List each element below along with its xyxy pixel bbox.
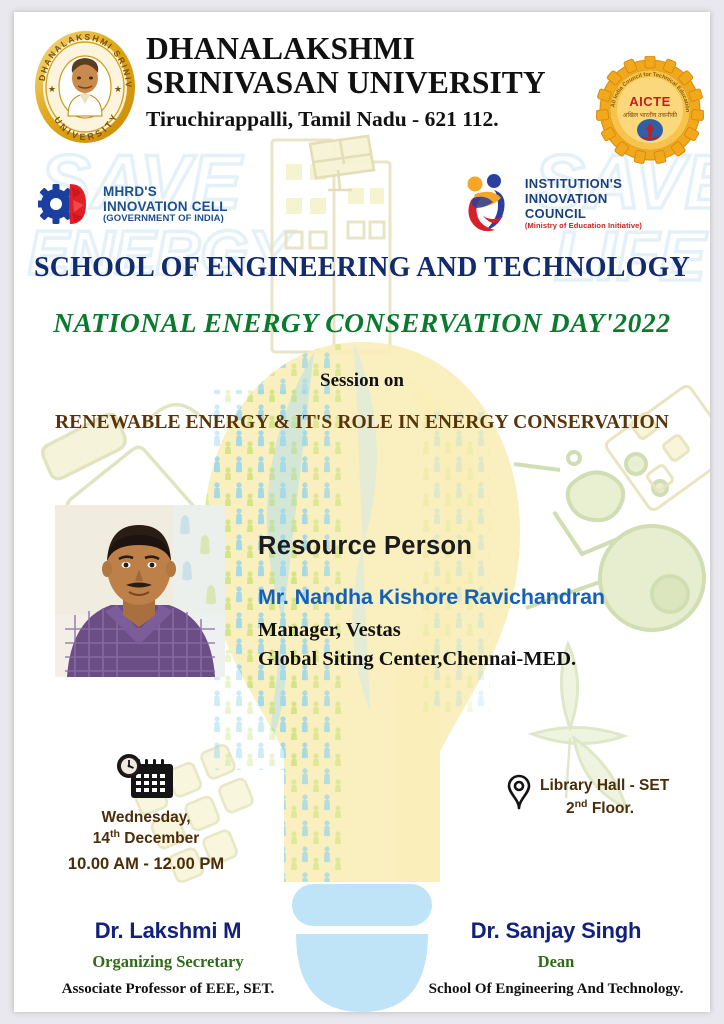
schedule-month: December xyxy=(124,830,199,847)
signature-left-role: Organizing Secretary xyxy=(18,952,318,972)
resource-person-organization: Global Siting Center,Chennai-MED. xyxy=(258,648,688,671)
session-on-label: Session on xyxy=(14,370,710,392)
svg-text:अखिल भारतीय तकनीकी: अखिल भारतीय तकनीकी xyxy=(623,111,678,119)
signature-right-role: Dean xyxy=(406,952,706,972)
iic-figures-icon xyxy=(461,172,517,234)
poster-card: SAVE ENERGY SAVE LIFE xyxy=(14,12,710,1012)
venue-line1: Library Hall - SET xyxy=(540,774,669,797)
resource-person-heading: Resource Person xyxy=(258,532,688,561)
schedule-date-num: 14 xyxy=(93,830,110,847)
venue-block: Library Hall - SET 2nd Floor. xyxy=(506,774,669,821)
schedule-block: Wednesday, 14th December 10.00 AM - 12.0… xyxy=(28,754,264,874)
venue-floor-suffix: nd xyxy=(575,798,588,810)
signature-left: Dr. Lakshmi M Organizing Secretary Assoc… xyxy=(18,918,318,998)
svg-text:★: ★ xyxy=(114,84,122,94)
schedule-day: Wednesday, xyxy=(101,809,190,826)
iic-line3: COUNCIL xyxy=(525,206,642,221)
iic-logo: INSTITUTION'S INNOVATION COUNCIL (Minist… xyxy=(461,172,642,234)
solar-panel-icon xyxy=(310,136,374,190)
mhrd-innovation-cell-logo: MHRD'S INNOVATION CELL (GOVERNMENT OF IN… xyxy=(38,180,228,228)
school-title: SCHOOL OF ENGINEERING AND TECHNOLOGY xyxy=(14,252,710,284)
gear-brain-icon xyxy=(38,180,94,228)
calendar-clock-icon xyxy=(115,754,177,800)
resource-person-block: Resource Person Mr. Nandha Kishore Ravic… xyxy=(258,532,688,671)
university-name: DHANALAKSHMI SRINIVASAN UNIVERSITY xyxy=(146,32,606,100)
location-pin-icon xyxy=(506,774,532,812)
mhrd-line2: INNOVATION CELL xyxy=(103,199,228,214)
venue-floor-num: 2 xyxy=(566,800,575,817)
schedule-time: 10.00 AM - 12.00 PM xyxy=(28,855,264,874)
signature-right-affiliation: School Of Engineering And Technology. xyxy=(406,981,706,998)
university-seal-logo: DHANALAKSHMI SRINIVASAN UNIVERSITY ★ ★ xyxy=(30,28,140,146)
poster-header: DHANALAKSHMI SRINIVASAN UNIVERSITY ★ ★ D… xyxy=(14,12,710,140)
signature-right: Dr. Sanjay Singh Dean School Of Engineer… xyxy=(406,918,706,998)
resource-person-role: Manager, Vestas xyxy=(258,619,688,642)
university-title-block: DHANALAKSHMI SRINIVASAN UNIVERSITY Tiruc… xyxy=(146,32,606,132)
schedule-date-suffix: th xyxy=(110,828,120,840)
session-topic: RENEWABLE ENERGY & IT'S ROLE IN ENERGY C… xyxy=(14,412,710,434)
mhrd-line3: (GOVERNMENT OF INDIA) xyxy=(103,214,228,225)
university-address: Tiruchirappalli, Tamil Nadu - 621 112. xyxy=(146,107,606,132)
mhrd-line1: MHRD'S xyxy=(103,184,228,199)
iic-line2: INNOVATION xyxy=(525,191,642,206)
aicte-logo: AICTE अखिल भारतीय तकनीकी All India Counc… xyxy=(596,56,704,164)
svg-text:★: ★ xyxy=(48,84,56,94)
signature-right-name: Dr. Sanjay Singh xyxy=(406,918,706,944)
venue-floor-label: Floor. xyxy=(592,800,634,817)
iic-line1: INSTITUTION'S xyxy=(525,176,642,191)
signature-left-name: Dr. Lakshmi M xyxy=(18,918,318,944)
resource-person-name: Mr. Nandha Kishore Ravichandran xyxy=(258,585,688,610)
event-title: NATIONAL ENERGY CONSERVATION DAY'2022 xyxy=(14,307,710,339)
signature-left-affiliation: Associate Professor of EEE, SET. xyxy=(18,981,318,998)
svg-text:AICTE: AICTE xyxy=(629,94,671,109)
iic-subtitle: (Ministry of Education Initiative) xyxy=(525,222,642,231)
speaker-photo xyxy=(55,505,225,677)
